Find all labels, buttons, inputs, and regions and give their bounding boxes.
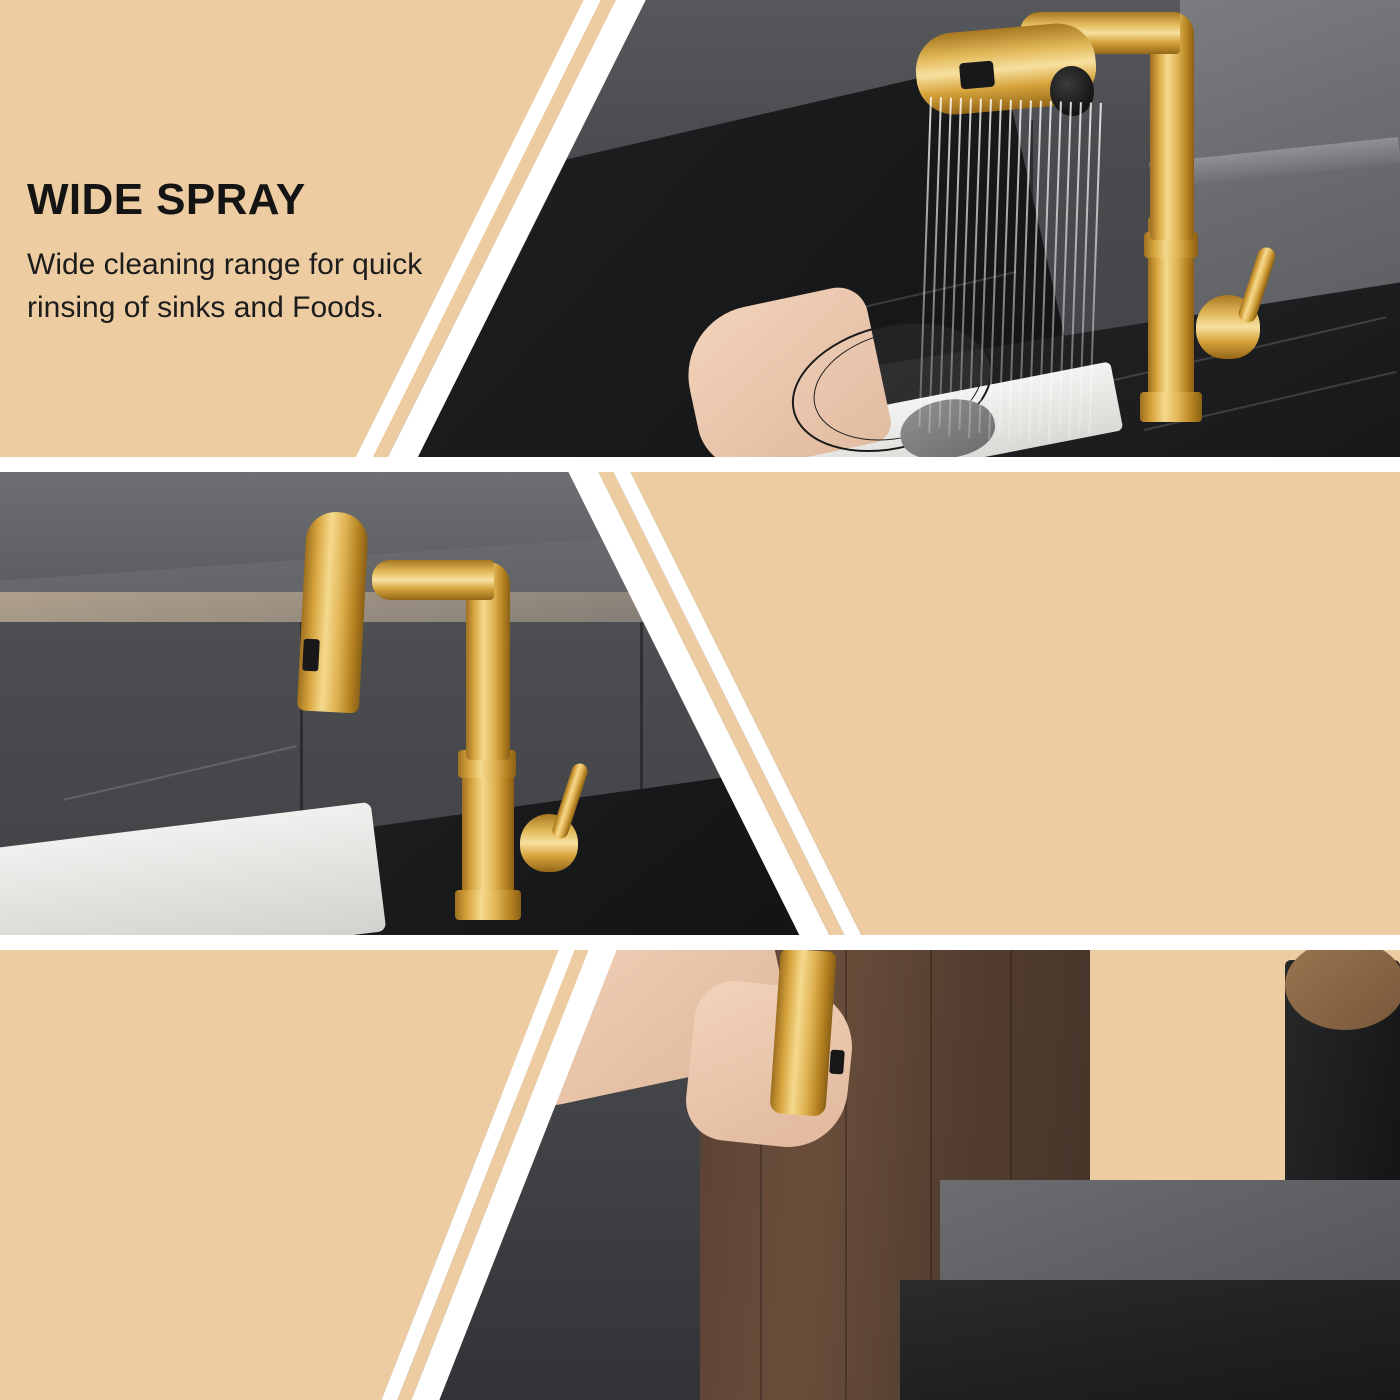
feature-panel-wide-spray: WIDE SPRAY Wide cleaning range for quick… (0, 0, 1400, 457)
panel-1-body-line: Wide cleaning range for quick (27, 244, 422, 287)
panel-2-diagonal-divider (0, 472, 1400, 935)
panel-1-caption: WIDE SPRAY Wide cleaning range for quick… (27, 178, 422, 329)
panel-1-title: WIDE SPRAY (27, 178, 422, 222)
feature-panel-aerated-stream: AERATED STREAM No splashing, daily clean… (0, 472, 1400, 935)
feature-panel-sweep-spray: SWEEP SPRAY Powerful water mode for clea… (0, 950, 1400, 1400)
panel-1-body: Wide cleaning range for quick rinsing of… (27, 244, 422, 329)
panel-3-diagonal-divider (0, 950, 1400, 1400)
panel-1-body-line: rinsing of sinks and Foods. (27, 287, 422, 330)
infographic-sheet: WIDE SPRAY Wide cleaning range for quick… (0, 0, 1400, 1400)
